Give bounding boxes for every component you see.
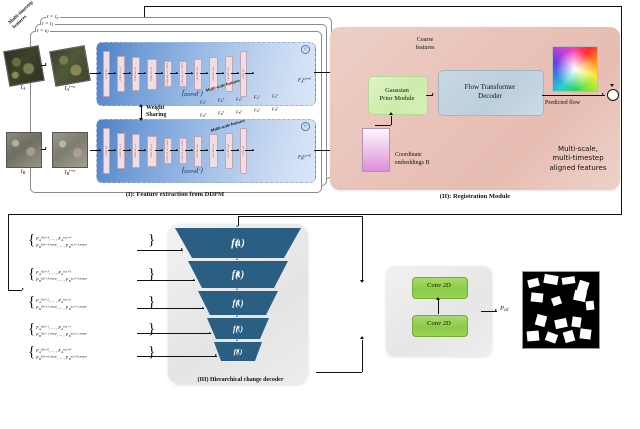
feature-set-arrow-line <box>137 280 195 281</box>
decoder-feature-set-text: FAt0,i=4, ... , FAtn,i=4FBt0,i=4,warp, .… <box>36 236 86 250</box>
decoder-level-label: fd2(.) <box>198 298 278 308</box>
feature-set-arrow-head <box>215 354 217 356</box>
outer-feedback-wire-top <box>144 6 622 7</box>
multiscale-feature-tag: FA3 <box>218 98 224 103</box>
unet-flow-arrow <box>114 72 116 74</box>
decoder-feature-set-text: FAt0,i=0, ... , FAtn,i=0FBt0,i=0,warp, .… <box>36 348 86 362</box>
unet-conv-block: CONV 3x3, s=2 + ATTN <box>179 138 187 163</box>
fddpm-label-A: fDDPM(·) <box>182 89 203 97</box>
decoder-level-3[interactable]: fd3(.) <box>207 318 269 339</box>
ftd-to-junction-line <box>542 95 605 96</box>
decoder-upsample-arrow <box>236 288 238 290</box>
ddpm-unet-A <box>96 42 316 106</box>
weight-sharing-arrow-up <box>139 104 143 107</box>
unet-output-arrow <box>252 72 254 74</box>
ddpm-unet-B <box>96 119 316 183</box>
unet-conv-block-label: UP CONV 3x3 <box>197 144 199 157</box>
feature-set-arrow-line <box>137 250 183 251</box>
weight-sharing-label: WeightSharing <box>146 105 166 119</box>
input-image-A <box>3 45 45 87</box>
pcd-out-arrow <box>495 309 497 311</box>
unet-flow-arrow <box>206 72 208 74</box>
unet-conv-block: UP CONV 3x3 <box>225 133 233 170</box>
multiscale-feature-tag: FB4 <box>200 113 206 118</box>
pcd-output-label: Pcd <box>500 306 508 314</box>
brace-right: } <box>148 233 155 248</box>
ftd-to-junction-arrow <box>602 93 604 95</box>
brace-right: } <box>148 345 155 360</box>
decoder-level-label: fd0(.) <box>175 237 301 249</box>
decoder-input-line <box>8 290 22 291</box>
decoder-feature-set-text: FAt0,i=1, ... , FAtn,i=1FBt0,i=1,warp, .… <box>36 325 86 339</box>
decoder-level-label: fd3(.) <box>207 324 269 333</box>
decoder-top-out-v <box>238 216 239 226</box>
unet-flow-arrow <box>237 72 239 74</box>
unet-flow-arrow <box>161 72 163 74</box>
weight-sharing-arrow-down <box>139 118 143 121</box>
input-image-A-label: IA <box>6 85 40 92</box>
unet-flow-arrow <box>176 72 178 74</box>
unet-flow-arrow <box>237 149 239 151</box>
unet-conv-block-label: CONV 3x3, s=2 <box>135 67 137 81</box>
unet-conv-block-label: CONV 3x3, s=2 <box>120 67 122 81</box>
unet-A-node-icon: c <box>301 45 310 54</box>
unet-conv-block-label: CONV 3x3, s=2 + ATTN <box>167 63 169 85</box>
unet-conv-block: CONV 3x3, s=2 + ATTN <box>164 138 172 163</box>
unet-conv-block: CONV 3x3, s=2 <box>132 57 140 91</box>
unet-flow-arrow <box>114 149 116 151</box>
decoder-level-2[interactable]: fd2(.) <box>198 291 278 315</box>
unet-conv-block-label: CONV 3x3, s=2 <box>120 144 122 158</box>
decoder-level-1[interactable]: fd1(.) <box>188 261 288 288</box>
flow-transformer-decoder-label: Flow TransformerDecoder <box>438 83 542 101</box>
feature-set-arrow-head <box>181 248 183 250</box>
line-A-to-noisy <box>41 65 46 66</box>
unet-flow-arrow <box>144 149 146 151</box>
multiscale-feature-tag: FB0 <box>272 107 278 112</box>
decoder-level-label: fd1(.) <box>188 269 288 280</box>
unet-conv-block: CONV 3x3, s=2 + ATTN <box>179 61 187 86</box>
unet-flow-arrow <box>222 72 224 74</box>
unet-conv-block: UP CONV 3x3 <box>194 136 202 167</box>
feature-set-arrow-head <box>209 332 211 334</box>
module-one-caption: (I): Feature extraction from DDPM <box>60 192 290 199</box>
fusion-junction-node <box>607 89 619 101</box>
unet-conv-block: CONV 3x3, s=2 <box>132 134 140 168</box>
unet-conv-block: CONV 3x3, s=2 <box>147 136 157 167</box>
brace-left: { <box>28 345 35 360</box>
module-two-caption: (II): Registration Module <box>370 194 580 201</box>
timestep-tag-t0: t = t0 <box>36 28 50 34</box>
junction-top-arrow <box>610 84 614 87</box>
unet-conv-block-label: CONV 3x3, s=2 <box>151 67 153 81</box>
unet-conv-block: UP CONV 3x3 <box>209 134 218 168</box>
multiscale-feature-tag: FA1 <box>254 95 260 100</box>
outer-feedback-wire-right <box>621 6 622 214</box>
unet-input-arrow <box>99 72 101 74</box>
unet-conv-block-label: CONV 3x3 <box>106 69 108 79</box>
decoder-feature-set-text: FAt0,i=2, ... , FAtn,i=2FBt0,i=2,warp, .… <box>36 298 86 312</box>
unet-conv-block: UP CONV 3x3 <box>194 59 202 90</box>
unet-flow-arrow <box>161 149 163 151</box>
unet-B-node-icon: c <box>301 122 310 131</box>
unet-conv-block-label: CONV 3x3, s=2 + ATTN <box>182 140 184 162</box>
input-image-B-label: IB <box>6 169 40 176</box>
conv-feed-arrow <box>360 280 364 283</box>
input-image-B <box>6 132 42 168</box>
unet-flow-arrow <box>176 149 178 151</box>
unet-conv-block-label: UP CONV 3x3 <box>228 67 230 80</box>
decoder-level-label: fd4(.) <box>214 348 262 356</box>
feature-set-arrow-line <box>137 333 211 334</box>
change-blob <box>586 301 595 311</box>
unet-conv-block-label: UP CONV 3x3 <box>213 144 215 157</box>
unet-conv-block-label: UP CONV 3x3 <box>213 67 215 80</box>
change-blob <box>531 292 544 302</box>
conv-inner-arrow <box>436 297 440 300</box>
unet-conv-block-label: CONV 3x3, s=2 + ATTN <box>167 140 169 162</box>
predicted-flow-color-wheel <box>552 46 598 92</box>
decoder-upsample-arrow <box>236 315 238 317</box>
unet-conv-block-label: CONV 3x3, s=2 + ATTN <box>182 63 184 85</box>
unet-conv-block-label: CONV 3x3 <box>243 146 245 156</box>
unet-flow-arrow <box>222 149 224 151</box>
noisy-image-B <box>52 132 88 168</box>
decoder-upsample-arrow <box>236 339 238 341</box>
unet-conv-block-label: CONV 3x3, s=2 <box>135 144 137 158</box>
multiscale-feature-tag: FA2 <box>236 97 242 102</box>
unet-conv-block-label: UP CONV 3x3 <box>197 67 199 80</box>
feature-set-arrow-head <box>202 307 204 309</box>
predicted-flow-label: Predicted flow <box>545 100 580 106</box>
conv2d-block-top-label: Conv 2D <box>412 283 466 290</box>
coordinate-embeddings-label: Coordinateembeddings B <box>395 152 430 168</box>
decoder-input-arrow <box>22 288 24 290</box>
brace-right: } <box>148 322 155 337</box>
module-three-caption: (III) Hierarchical change decoder <box>178 377 303 383</box>
change-blob <box>571 316 581 327</box>
unet-conv-block: CONV 3x3, s=2 <box>117 133 125 170</box>
arrow-B-to-noisy <box>45 147 47 149</box>
noisy-image-A <box>49 45 91 87</box>
unet-conv-block-label: CONV 3x3 <box>106 146 108 156</box>
aligned-features-label: Multi-scale,multi-timestepaligned featur… <box>540 145 616 173</box>
unet-flow-arrow <box>129 149 131 151</box>
feature-tag-B-out: FBt,i=0 <box>298 155 310 161</box>
coarse-features-label: Coarsefeatures <box>400 37 450 52</box>
change-blob <box>573 290 587 302</box>
noisy-image-B-label: IBt=ti <box>52 169 88 176</box>
unet-conv-block: CONV 3x3, s=2 <box>147 59 157 90</box>
feature-tag-A-out: FAt,i=0 <box>298 78 310 84</box>
unet-input-arrow <box>99 149 101 151</box>
fddpm-label-B: fDDPM(·) <box>182 166 203 174</box>
noisy-image-A-label: IAt=ti <box>52 85 88 92</box>
unet-conv-block: CONV 3x3, s=2 <box>117 56 125 93</box>
decoder-upsample-arrow <box>236 258 238 260</box>
change-blob <box>527 330 540 341</box>
multiscale-feature-tag: FB1 <box>254 108 260 113</box>
coord-to-gpm-arrow <box>389 112 393 115</box>
unet-conv-block-label: UP CONV 3x3 <box>228 144 230 157</box>
timestep-tag-tn: t = tn <box>46 14 60 20</box>
decoder-to-conv-h <box>238 216 362 217</box>
feature-set-arrow-line <box>137 308 204 309</box>
decoder-return-wire-left <box>8 214 9 290</box>
unet-output-arrow <box>252 149 254 151</box>
multiscale-feature-tag: FA4 <box>200 100 206 105</box>
decoder-feature-set-text: FAt0,i=3, ... , FAtn,i=3FBt0,i=3,warp, .… <box>36 270 86 284</box>
unet-conv-block: CONV 3x3 <box>240 51 247 97</box>
gpm-to-ftd-line <box>426 95 433 96</box>
conv2d-block-bottom-label: Conv 2D <box>412 321 466 328</box>
brace-left: { <box>28 295 35 310</box>
brace-left: { <box>28 267 35 282</box>
unet-flow-arrow <box>191 72 193 74</box>
decoder-return-wire <box>8 214 622 215</box>
multiscale-feature-tag: FB3 <box>218 111 224 116</box>
conv-feed-v <box>362 216 363 282</box>
coord-to-gpm-h <box>375 125 391 126</box>
feature-set-arrow-line <box>137 356 217 357</box>
unet-conv-block: CONV 3x3 <box>240 128 247 174</box>
timestep-tag-t1: t = t1 <box>41 21 55 27</box>
feat-A-route-h1 <box>314 72 330 73</box>
feature-set-arrow-head <box>193 279 195 281</box>
decoder-level-4[interactable]: fd4(.) <box>214 342 262 361</box>
coordinate-embeddings-block <box>362 128 390 172</box>
unet-conv-block: UP CONV 3x3 <box>225 56 233 93</box>
decoder-level-0[interactable]: fd0(.) <box>175 228 301 258</box>
unet-conv-block: CONV 3x3, s=2 + ATTN <box>164 61 172 86</box>
unet-flow-arrow <box>191 149 193 151</box>
multiscale-feature-tag: FA0 <box>272 94 278 99</box>
unet-flow-arrow <box>144 72 146 74</box>
brace-left: { <box>28 233 35 248</box>
decoder-bottom-out-h <box>316 372 362 373</box>
decoder-bottom-out-v <box>362 340 363 372</box>
coord-to-gpm-v <box>391 116 392 125</box>
gaussian-prior-module-label: GaussianPrior Module <box>368 87 426 104</box>
unet-flow-arrow <box>206 149 208 151</box>
unet-conv-block: CONV 3x3 <box>103 128 110 174</box>
multiscale-feature-tag: FB2 <box>236 110 242 115</box>
conv-inner-line <box>438 300 439 314</box>
unet-conv-block-label: CONV 3x3 <box>243 69 245 79</box>
conv-bottom-arrow <box>360 336 364 339</box>
brace-left: { <box>28 322 35 337</box>
unet-conv-block-label: CONV 3x3, s=2 <box>151 144 153 158</box>
change-blob <box>579 328 591 339</box>
unet-flow-arrow <box>129 72 131 74</box>
unet-conv-block: CONV 3x3 <box>103 51 110 97</box>
